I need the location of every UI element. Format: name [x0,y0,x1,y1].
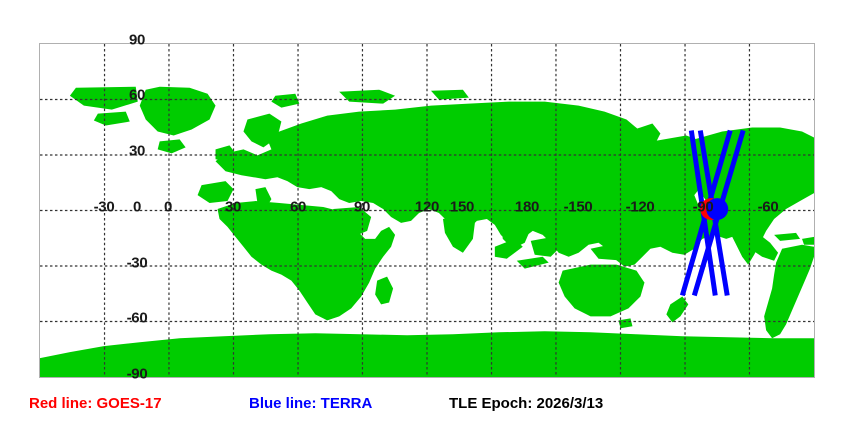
lat-tick--60: -60 [127,311,148,326]
severnaya-zemlya [431,90,469,100]
arctic-russia-islands [339,90,395,104]
australia [559,265,645,317]
lon-tick--120: -120 [626,200,655,215]
lat-tick-60: 60 [129,88,145,103]
india [443,215,475,253]
lon-tick-150: 150 [450,200,474,215]
java [517,257,549,269]
cuba [774,233,800,241]
legend-blue-line-terra: Blue line: TERRA [249,396,372,411]
lon-tick-60: 60 [290,200,306,215]
lon-tick-30: 30 [225,200,241,215]
lon-tick-120: 120 [415,200,439,215]
lon-tick-180: 180 [515,200,539,215]
lon-tick--30: -30 [94,200,115,215]
legend-tle-epoch: TLE Epoch: 2026/3/13 [449,396,603,411]
iceland [158,139,186,153]
lon-tick-0: 0 [164,200,172,215]
hispaniola [802,237,814,245]
lat-tick-30: 30 [129,144,145,159]
legend: Red line: GOES-17 Blue line: TERRA TLE E… [0,396,850,420]
legend-red-line-goes17: Red line: GOES-17 [29,396,162,411]
svalbard [271,94,299,108]
lon-tick--150: -150 [564,200,593,215]
lat-tick--30: -30 [127,256,148,271]
greenland [140,87,216,136]
world-map-figure: -30 0 30 60 90 120 150 180 -150 -120 -90… [0,0,850,425]
arctic-island-a [94,112,130,126]
lat-tick-90: 90 [129,33,145,48]
canadian-arctic [70,87,138,110]
madagascar [375,277,393,305]
lat-tick-0: 0 [133,200,141,215]
lat-tick--90: -90 [127,367,148,382]
lon-tick--60: -60 [758,200,779,215]
lon-tick-90: 90 [354,200,370,215]
lon-tick--90: -90 [693,200,714,215]
